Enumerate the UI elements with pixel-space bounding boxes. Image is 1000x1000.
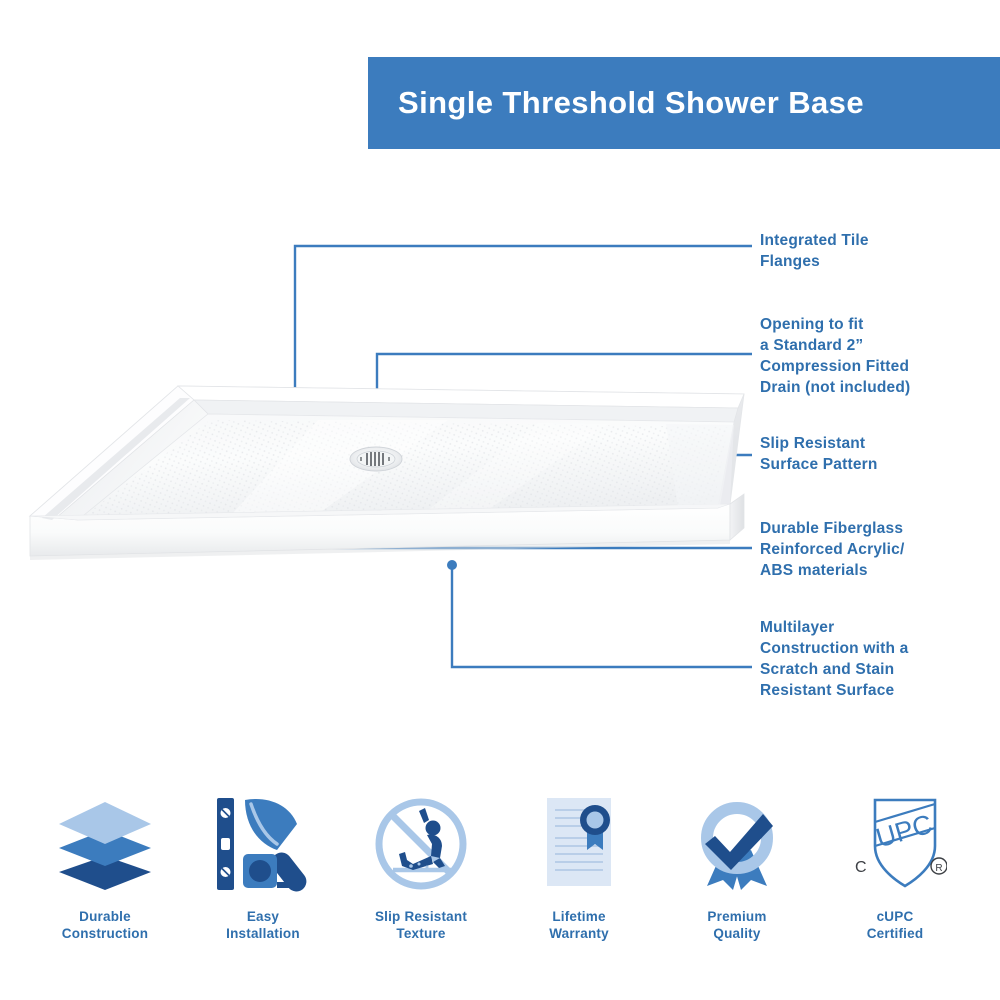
title-banner: Single Threshold Shower Base bbox=[368, 57, 1000, 149]
shield-left-mark: C bbox=[855, 859, 867, 876]
callout-durable-fiberglass: Durable Fiberglass Reinforced Acrylic/ A… bbox=[760, 518, 905, 581]
page-title: Single Threshold Shower Base bbox=[398, 85, 864, 121]
upc-shield-icon: UPC C R bbox=[840, 790, 950, 898]
feature-label: Premium Quality bbox=[707, 908, 766, 942]
feature-icon-row: Durable Construction bbox=[0, 790, 1000, 970]
no-slip-icon bbox=[366, 790, 476, 898]
base-right-face bbox=[730, 494, 744, 540]
feature-durable-construction: Durable Construction bbox=[30, 790, 180, 942]
drain-grate bbox=[350, 447, 402, 471]
feature-label: Slip Resistant Texture bbox=[375, 908, 467, 942]
layers-icon bbox=[50, 790, 160, 898]
feature-slip-resistant: Slip Resistant Texture bbox=[346, 790, 496, 942]
feature-label: Easy Installation bbox=[226, 908, 300, 942]
check-rosette-icon bbox=[682, 790, 792, 898]
feature-label: Lifetime Warranty bbox=[549, 908, 609, 942]
certificate-icon bbox=[524, 790, 634, 898]
shield-registered-mark: R bbox=[931, 858, 947, 874]
callout-slip-resistant-surface: Slip Resistant Surface Pattern bbox=[760, 433, 878, 475]
callout-integrated-tile-flanges: Integrated Tile Flanges bbox=[760, 230, 869, 272]
shower-base-illustration bbox=[18, 368, 748, 588]
feature-lifetime-warranty: Lifetime Warranty bbox=[504, 790, 654, 942]
product-infographic: Single Threshold Shower Base Integrated … bbox=[0, 0, 1000, 1000]
feature-label: cUPC Certified bbox=[867, 908, 924, 942]
feature-cupc-certified: UPC C R cUPC Certified bbox=[820, 790, 970, 942]
callout-drain-opening: Opening to fit a Standard 2” Compression… bbox=[760, 314, 910, 398]
svg-text:R: R bbox=[935, 863, 942, 874]
feature-premium-quality: Premium Quality bbox=[662, 790, 812, 942]
tools-icon bbox=[208, 790, 318, 898]
callout-multilayer-construction: Multilayer Construction with a Scratch a… bbox=[760, 617, 908, 701]
feature-easy-installation: Easy Installation bbox=[188, 790, 338, 942]
feature-label: Durable Construction bbox=[62, 908, 148, 942]
